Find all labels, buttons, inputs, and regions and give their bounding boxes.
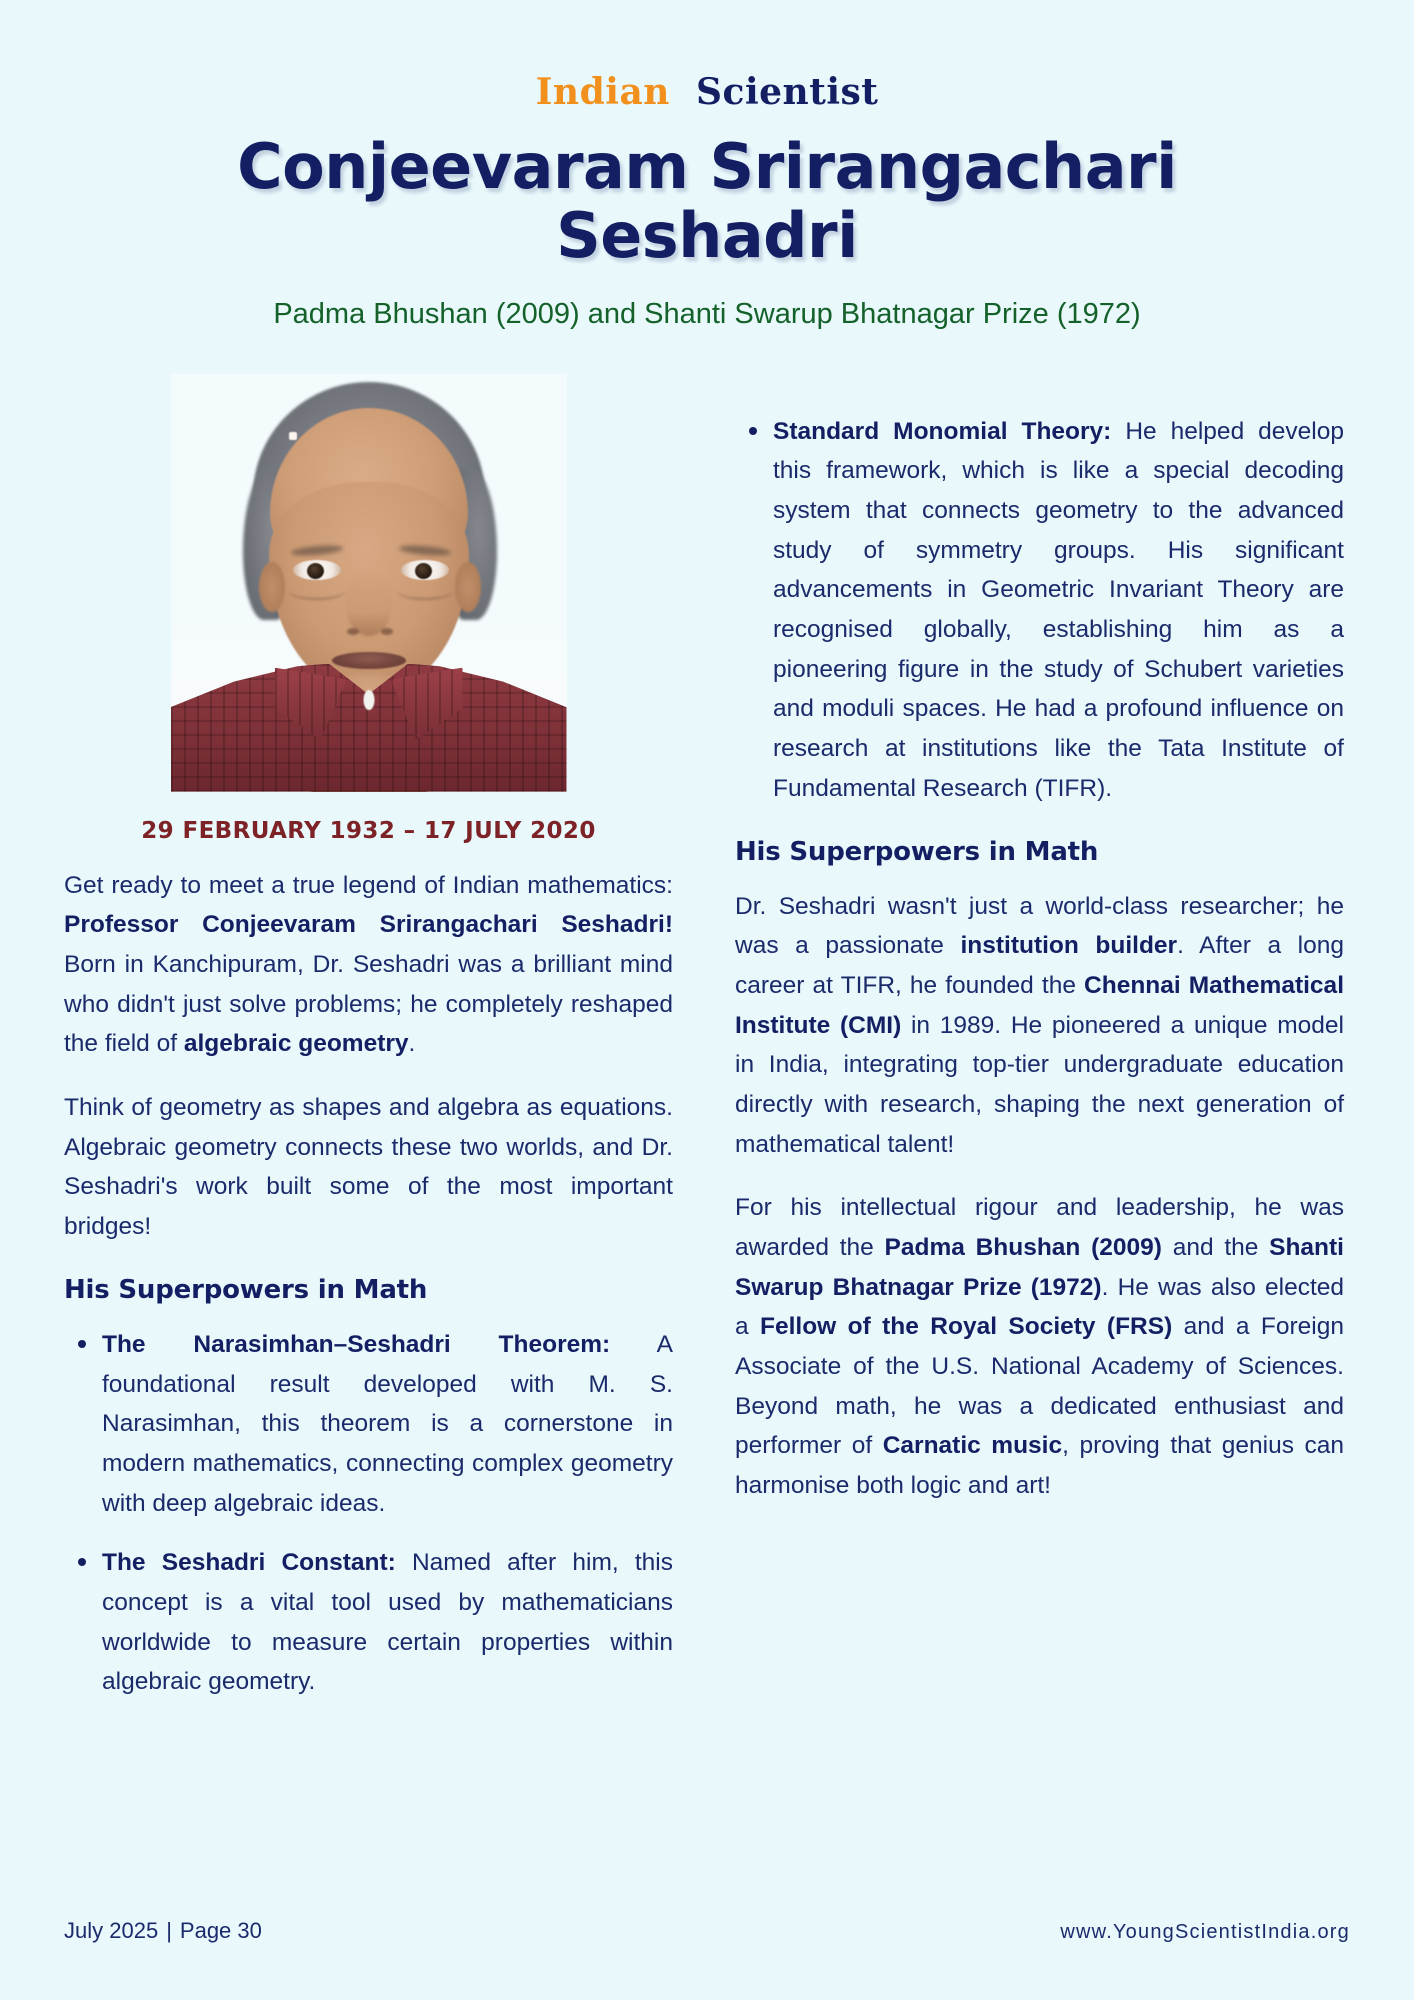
- scientist-portrait-photo: [171, 374, 567, 792]
- footer-issue-date: July 2025: [64, 1918, 158, 1943]
- kicker-word-indian: Indian: [536, 71, 670, 113]
- right-section-heading: His Superpowers in Math: [735, 837, 1344, 867]
- para2-bold-frs: Fellow of the Royal Society (FRS): [760, 1313, 1172, 1340]
- para1-bold-builder: institution builder: [960, 932, 1177, 959]
- kicker: Indian Scientist: [64, 74, 1350, 110]
- portrait-wrapper: [64, 374, 673, 792]
- para2-bold-carnatic: Carnatic music: [883, 1432, 1062, 1459]
- bullet-lead: Standard Monomial Theory:: [773, 418, 1111, 445]
- para2-bold-padma: Padma Bhushan (2009): [885, 1234, 1162, 1261]
- left-section-heading: His Superpowers in Math: [64, 1275, 673, 1305]
- intro-paragraph: Get ready to meet a true legend of India…: [64, 866, 673, 1064]
- intro-text-3: .: [409, 1030, 416, 1057]
- list-item: Standard Monomial Theory: He helped deve…: [773, 412, 1344, 809]
- bullet-dot-icon: [78, 1340, 86, 1348]
- right-bullet-list: Standard Monomial Theory: He helped deve…: [735, 412, 1344, 809]
- kicker-word-scientist: Scientist: [696, 71, 878, 113]
- bullet-text: He helped develop this framework, which …: [773, 418, 1344, 802]
- intro-bold-name: Professor Conjeevaram Srirangachari Sesh…: [64, 911, 673, 938]
- intro-text-1: Get ready to meet a true legend of India…: [64, 872, 673, 899]
- footer-website[interactable]: www.YoungScientistIndia.org: [1060, 1921, 1350, 1944]
- bullet-lead: The Seshadri Constant:: [102, 1549, 396, 1576]
- list-item: The Seshadri Constant: Named after him, …: [102, 1543, 673, 1702]
- lifespan-dates: 29 FEBRUARY 1932 – 17 JULY 2020: [64, 818, 673, 844]
- footer-page-number: Page 30: [180, 1918, 262, 1943]
- page-footer: July 2025|Page 30 www.YoungScientistIndi…: [64, 1918, 1350, 1944]
- bullet-lead: The Narasimhan–Seshadri Theorem:: [102, 1331, 610, 1358]
- right-column: Standard Monomial Theory: He helped deve…: [735, 374, 1344, 1702]
- masthead: Indian Scientist Conjeevaram Srirangacha…: [64, 0, 1350, 332]
- para2-text-2: and the: [1162, 1234, 1269, 1261]
- institution-builder-paragraph: Dr. Seshadri wasn't just a world-class r…: [735, 887, 1344, 1165]
- bullet-dot-icon: [78, 1558, 86, 1566]
- left-bullet-list: The Narasimhan–Seshadri Theorem: A found…: [64, 1325, 673, 1702]
- geometry-explainer-paragraph: Think of geometry as shapes and algebra …: [64, 1088, 673, 1247]
- bullet-dot-icon: [749, 427, 757, 435]
- intro-bold-field: algebraic geometry: [184, 1030, 409, 1057]
- left-column: 29 FEBRUARY 1932 – 17 JULY 2020 Get read…: [64, 374, 673, 1702]
- list-item: The Narasimhan–Seshadri Theorem: A found…: [102, 1325, 673, 1523]
- page-title: Conjeevaram Srirangachari Seshadri: [197, 132, 1217, 271]
- footer-left: July 2025|Page 30: [64, 1918, 262, 1944]
- magazine-page: Indian Scientist Conjeevaram Srirangacha…: [0, 0, 1414, 2000]
- page-subtitle: Padma Bhushan (2009) and Shanti Swarup B…: [64, 297, 1350, 332]
- bullet-text: A foundational result developed with M. …: [102, 1331, 673, 1517]
- content-columns: 29 FEBRUARY 1932 – 17 JULY 2020 Get read…: [64, 374, 1350, 1702]
- footer-separator: |: [158, 1918, 180, 1943]
- awards-paragraph: For his intellectual rigour and leadersh…: [735, 1188, 1344, 1506]
